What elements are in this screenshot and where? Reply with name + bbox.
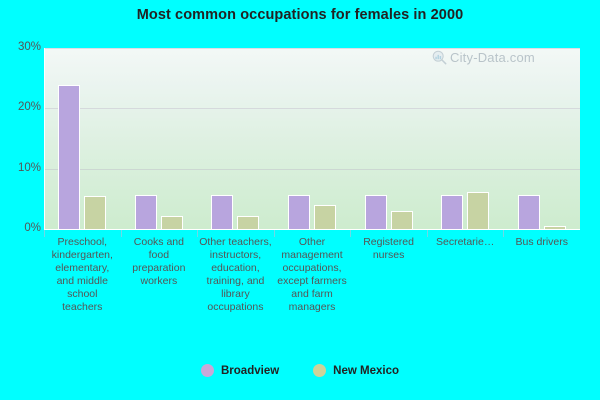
bar-group <box>350 48 427 229</box>
x-axis-labels: Preschool, kindergarten, elementary, and… <box>44 236 580 356</box>
bar[interactable] <box>391 211 413 229</box>
bar-group <box>121 48 198 229</box>
bar[interactable] <box>135 195 157 229</box>
bar[interactable] <box>441 195 463 229</box>
bar-group <box>427 48 504 229</box>
bar[interactable] <box>544 226 566 229</box>
bar[interactable] <box>211 195 233 229</box>
bar[interactable] <box>518 195 540 229</box>
legend-item[interactable]: New Mexico <box>313 364 399 377</box>
x-axis-label: Registered nurses <box>350 236 427 356</box>
legend-swatch <box>313 364 326 377</box>
bar-group <box>503 48 580 229</box>
y-axis-labels: 30% 20% 10% 0% <box>0 48 41 229</box>
bar[interactable] <box>58 85 80 229</box>
chart-root: Most common occupations for females in 2… <box>0 0 600 400</box>
y-tick-label-30: 30% <box>3 41 41 53</box>
x-axis-label: Preschool, kindergarten, elementary, and… <box>44 236 121 356</box>
legend-label: Broadview <box>221 365 279 377</box>
bar[interactable] <box>314 205 336 229</box>
bar[interactable] <box>365 195 387 229</box>
legend-item[interactable]: Broadview <box>201 364 279 377</box>
bar-group <box>44 48 121 229</box>
x-axis-label: Cooks and food preparation workers <box>121 236 198 356</box>
bar[interactable] <box>467 192 489 229</box>
y-tick-label-0: 0% <box>3 222 41 234</box>
x-axis-label: Secretarie… <box>427 236 504 356</box>
bar-group <box>197 48 274 229</box>
bar[interactable] <box>237 216 259 229</box>
bar-groups <box>44 48 580 229</box>
x-axis-label: Bus drivers <box>503 236 580 356</box>
bar-group <box>274 48 351 229</box>
chart-title: Most common occupations for females in 2… <box>0 6 600 24</box>
legend-label: New Mexico <box>333 365 399 377</box>
legend-swatch <box>201 364 214 377</box>
bar[interactable] <box>84 196 106 229</box>
bar[interactable] <box>161 216 183 229</box>
chart-legend: BroadviewNew Mexico <box>0 364 600 377</box>
x-axis-label: Other teachers, instructors, education, … <box>197 236 274 356</box>
bar[interactable] <box>288 195 310 229</box>
y-tick-label-10: 10% <box>3 162 41 174</box>
y-tick-label-20: 20% <box>3 101 41 113</box>
x-axis-label: Other management occupations, except far… <box>274 236 351 356</box>
